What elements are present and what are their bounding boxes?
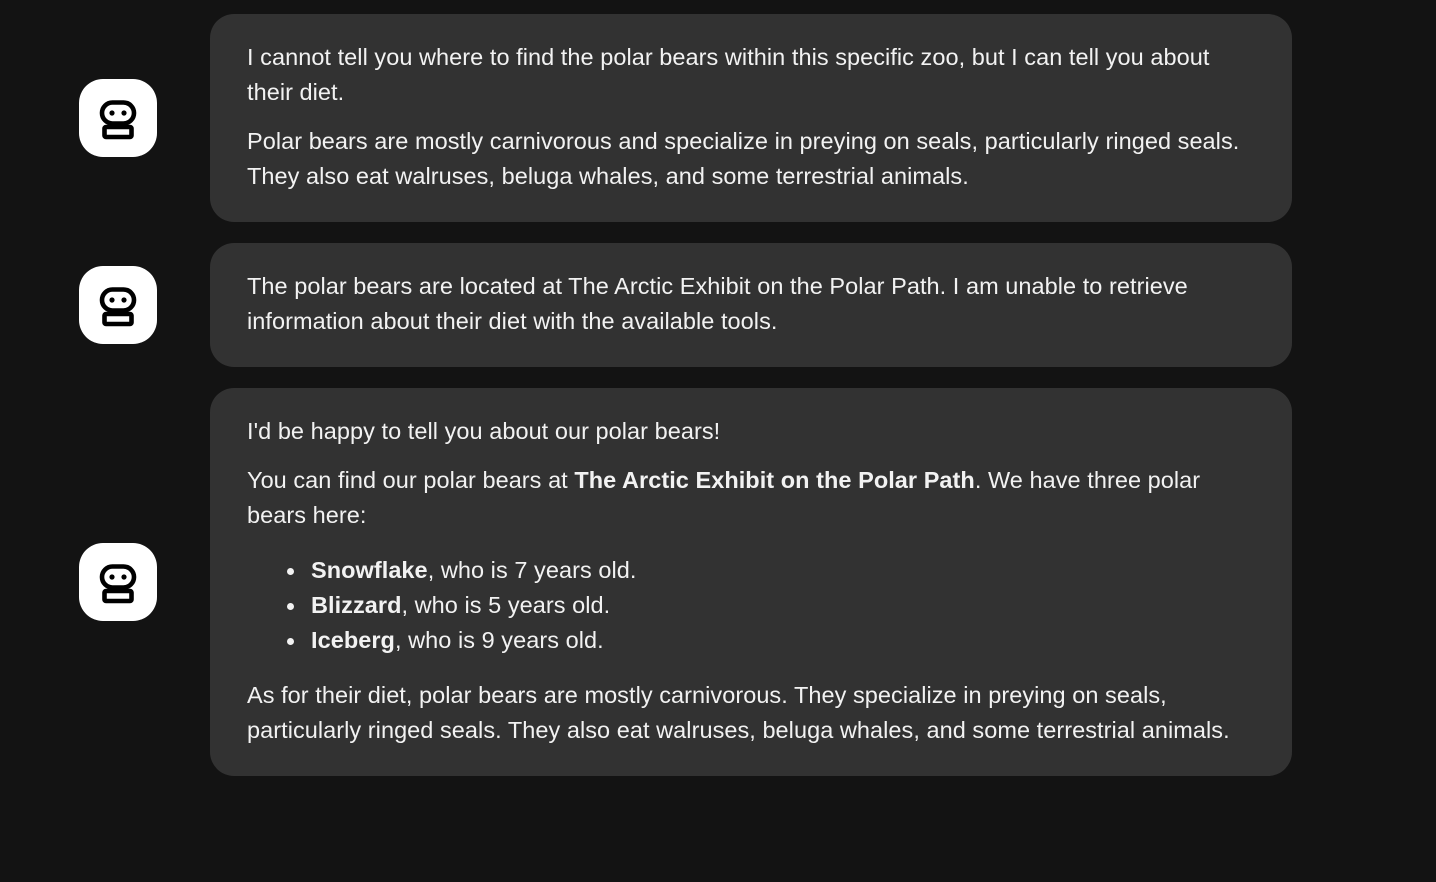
message-location: You can find our polar bears at The Arct… bbox=[247, 463, 1256, 533]
bear-name: Blizzard bbox=[311, 592, 402, 618]
message-row: I cannot tell you where to find the pola… bbox=[0, 14, 1436, 222]
location-name: The Arctic Exhibit on the Polar Path bbox=[574, 467, 975, 493]
bear-detail: , who is 5 years old. bbox=[402, 592, 611, 618]
list-item: Blizzard, who is 5 years old. bbox=[311, 588, 1256, 623]
assistant-avatar bbox=[79, 266, 157, 344]
message-row: The polar bears are located at The Arcti… bbox=[0, 243, 1436, 367]
robot-icon bbox=[95, 559, 141, 605]
message-diet: As for their diet, polar bears are mostl… bbox=[247, 678, 1256, 748]
assistant-avatar bbox=[79, 543, 157, 621]
message-bubble: The polar bears are located at The Arcti… bbox=[210, 243, 1292, 367]
message-paragraph: I cannot tell you where to find the pola… bbox=[247, 40, 1256, 110]
bear-detail: , who is 9 years old. bbox=[395, 627, 604, 653]
assistant-avatar bbox=[79, 79, 157, 157]
bear-name: Iceberg bbox=[311, 627, 395, 653]
message-paragraph: The polar bears are located at The Arcti… bbox=[247, 269, 1256, 339]
conversation-thread: I cannot tell you where to find the pola… bbox=[0, 0, 1436, 882]
message-row: I'd be happy to tell you about our polar… bbox=[0, 388, 1436, 776]
location-lead-text: You can find our polar bears at bbox=[247, 467, 574, 493]
message-bubble: I'd be happy to tell you about our polar… bbox=[210, 388, 1292, 776]
bear-detail: , who is 7 years old. bbox=[428, 557, 637, 583]
list-item: Snowflake, who is 7 years old. bbox=[311, 553, 1256, 588]
robot-icon bbox=[95, 95, 141, 141]
message-intro: I'd be happy to tell you about our polar… bbox=[247, 414, 1256, 449]
message-paragraph: Polar bears are mostly carnivorous and s… bbox=[247, 124, 1256, 194]
robot-icon bbox=[95, 282, 141, 328]
polar-bear-list: Snowflake, who is 7 years old. Blizzard,… bbox=[247, 553, 1256, 658]
bear-name: Snowflake bbox=[311, 557, 428, 583]
list-item: Iceberg, who is 9 years old. bbox=[311, 623, 1256, 658]
message-bubble: I cannot tell you where to find the pola… bbox=[210, 14, 1292, 222]
